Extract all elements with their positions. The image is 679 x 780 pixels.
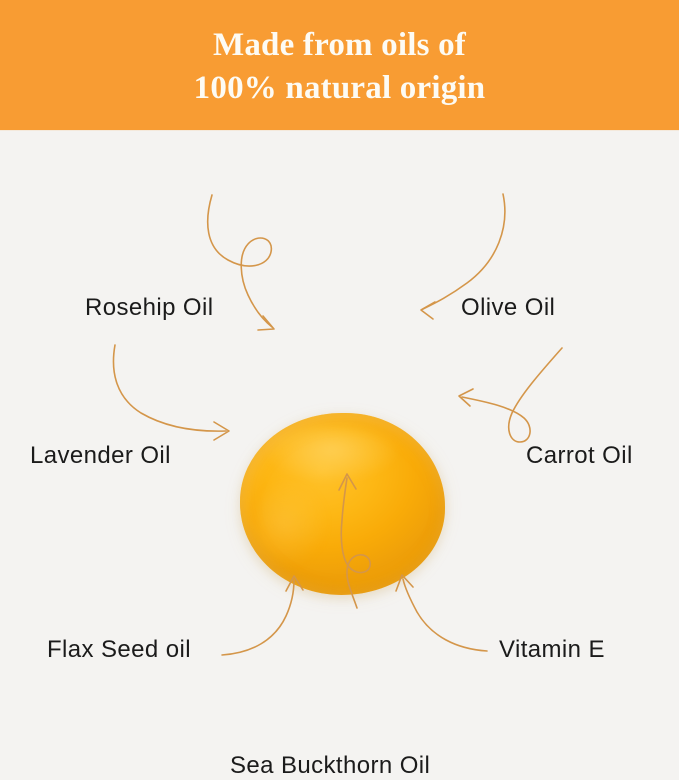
oil-droplet bbox=[240, 413, 445, 595]
ingredient-label-sea-buckthorn-oil: Sea Buckthorn Oil bbox=[230, 752, 430, 780]
arrow-vitamin-e-icon bbox=[396, 575, 487, 651]
arrow-lavender-icon bbox=[113, 345, 229, 440]
banner-headline-line-1: Made from oils of bbox=[213, 24, 466, 67]
ingredient-label-rosehip-oil: Rosehip Oil bbox=[85, 294, 213, 322]
arrow-rosehip-icon bbox=[208, 195, 274, 330]
arrow-carrot-icon bbox=[459, 348, 562, 442]
banner-headline-line-2: 100% natural origin bbox=[194, 67, 486, 110]
diagram-stage: Rosehip Oil Olive Oil Lavender Oil Carro… bbox=[0, 130, 679, 679]
ingredient-label-flax-seed-oil: Flax Seed oil bbox=[47, 636, 191, 664]
arrow-layer bbox=[0, 130, 679, 679]
ingredient-label-olive-oil: Olive Oil bbox=[461, 294, 555, 322]
ingredient-label-vitamin-e: Vitamin E bbox=[499, 636, 605, 664]
ingredient-infographic: Made from oils of 100% natural origin bbox=[0, 0, 679, 679]
ingredient-label-lavender-oil: Lavender Oil bbox=[30, 442, 171, 470]
arrow-flax-icon bbox=[222, 576, 303, 655]
header-banner: Made from oils of 100% natural origin bbox=[0, 0, 679, 130]
ingredient-label-carrot-oil: Carrot Oil bbox=[526, 442, 633, 470]
